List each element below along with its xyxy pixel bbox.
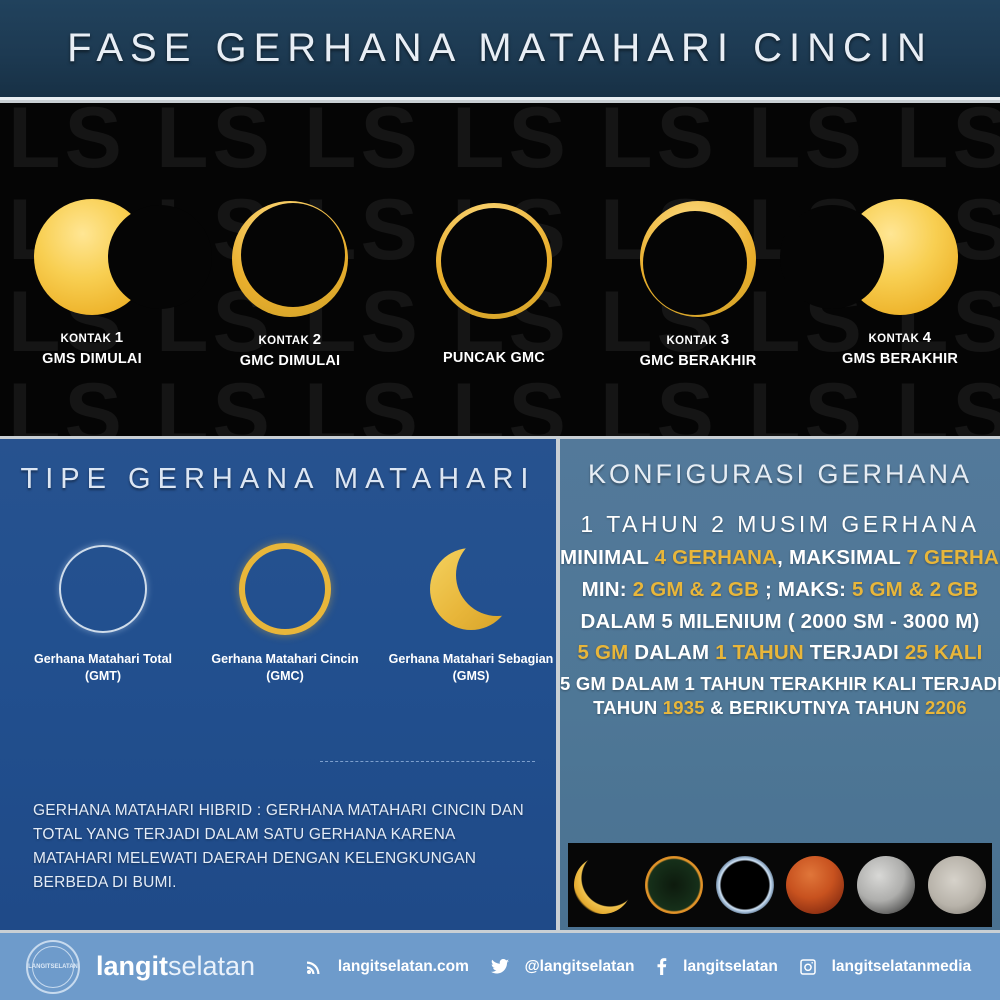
moon-disc bbox=[780, 205, 884, 309]
eclipse-photo-total-lunar-blood-moon bbox=[786, 856, 844, 914]
eclipse-types-title: TIPE GERHANA MATAHARI bbox=[0, 463, 556, 496]
highlight-value: 2206 bbox=[925, 697, 967, 718]
configuration-lines: 1 TAHUN 2 MUSIM GERHANAMINIMAL 4 GERHANA… bbox=[560, 511, 1000, 721]
highlight-value: 7 GERHANA bbox=[907, 546, 1000, 569]
corona-ring bbox=[59, 545, 147, 633]
rss-icon bbox=[306, 959, 330, 975]
config-text: & BERIKUTNYA TAHUN bbox=[705, 697, 925, 718]
moon-disc bbox=[441, 208, 547, 314]
type-abbr: (GMT) bbox=[85, 669, 121, 683]
phase-name: GMS BERAKHIR bbox=[800, 351, 1000, 367]
phase-name: GMC BERAKHIR bbox=[598, 353, 798, 369]
config-text: MINIMAL bbox=[560, 546, 655, 569]
phase-item-1: KONTAK 1GMS DIMULAI bbox=[0, 199, 192, 367]
config-text: TERJADI bbox=[804, 641, 905, 664]
eclipse-types-panel: TIPE GERHANA MATAHARI Gerhana Matahari T… bbox=[0, 439, 556, 930]
config-line-3: MIN: 2 GM & 2 GB ; MAKS: 5 GM & 2 GB bbox=[560, 578, 1000, 602]
config-text: DALAM 5 MILENIUM ( 2000 SM - 3000 M) bbox=[580, 610, 979, 633]
brand-bold: langit bbox=[96, 951, 168, 981]
phase-contact-label: KONTAK 4 bbox=[800, 329, 1000, 346]
moon-disc bbox=[241, 203, 345, 307]
phase-artwork-ring-thick bbox=[232, 201, 348, 317]
phase-name: GMS DIMULAI bbox=[0, 351, 192, 367]
phase-item-5: KONTAK 4GMS BERAKHIR bbox=[800, 199, 1000, 367]
phase-name: GMC DIMULAI bbox=[190, 353, 390, 369]
instagram-icon bbox=[800, 959, 824, 975]
phase-name: PUNCAK GMC bbox=[394, 350, 594, 366]
brand-wordmark: langitselatan bbox=[96, 951, 255, 982]
highlight-value: 25 KALI bbox=[905, 641, 983, 664]
seal-label: LANGITSELATAN bbox=[28, 942, 78, 992]
phase-artwork-ring-thick-offset bbox=[640, 201, 756, 317]
type-artwork-gold-crescent bbox=[421, 539, 521, 639]
config-text: DALAM bbox=[628, 641, 715, 664]
type-abbr: (GMC) bbox=[266, 669, 304, 683]
eclipse-photo-partial-solar-crescent bbox=[574, 856, 632, 914]
phase-contact-label: KONTAK 1 bbox=[0, 329, 192, 346]
type-artwork-gold-ring bbox=[235, 539, 335, 639]
brand-light: selatan bbox=[168, 951, 255, 981]
config-text: 1 TAHUN 2 MUSIM GERHANA bbox=[580, 511, 979, 537]
eclipse-type-gmc: Gerhana Matahari Cincin(GMC) bbox=[192, 539, 378, 685]
eclipse-photo-partial-lunar-eclipse bbox=[857, 856, 915, 914]
langitselatan-seal-logo: LANGITSELATAN bbox=[26, 940, 80, 994]
eclipse-phases-panel: LSLSLSLSLSLSLSLSLSLSLSLSLSLSLSLSLSLSLSLS… bbox=[0, 103, 1000, 436]
social-label: langitselatan bbox=[683, 958, 778, 976]
eclipse-type-gms: Gerhana Matahari Sebagian(GMS) bbox=[378, 539, 556, 685]
social-links: langitselatan.com@langitselatanlangitsel… bbox=[295, 958, 982, 976]
highlight-value: 4 GERHANA bbox=[655, 546, 778, 569]
social-label: langitselatan.com bbox=[338, 958, 469, 976]
highlight-value: 5 GM bbox=[577, 641, 628, 664]
hybrid-eclipse-note: GERHANA MATAHARI HIBRID : GERHANA MATAHA… bbox=[33, 799, 533, 895]
config-text: MIN: bbox=[582, 578, 633, 601]
phase-contact-label: KONTAK 2 bbox=[190, 331, 390, 348]
phase-artwork-ring-thin bbox=[436, 203, 552, 319]
type-name: Gerhana Matahari Sebagian bbox=[389, 652, 554, 666]
highlight-value: 5 GM & 2 GB bbox=[852, 578, 978, 601]
config-line-2: MINIMAL 4 GERHANA, MAKSIMAL 7 GERHANA bbox=[560, 546, 1000, 570]
config-text: TAHUN bbox=[593, 697, 663, 718]
crescent-shape bbox=[421, 539, 521, 639]
twitter-icon bbox=[491, 959, 517, 975]
eclipse-photo-annular-solar-ring bbox=[645, 856, 703, 914]
phase-item-2: KONTAK 2GMC DIMULAI bbox=[190, 201, 390, 369]
eclipse-type-label: Gerhana Matahari Cincin(GMC) bbox=[192, 651, 378, 685]
social-link-instagram[interactable]: langitselatanmedia bbox=[800, 958, 972, 976]
social-link-twitter[interactable]: @langitselatan bbox=[491, 958, 635, 976]
moon-disc bbox=[643, 211, 747, 315]
eclipse-photo-strip bbox=[568, 843, 992, 927]
page-title: FASE GERHANA MATAHARI CINCIN bbox=[67, 26, 933, 71]
eclipse-photo-total-solar-corona bbox=[716, 856, 774, 914]
phase-artwork-sun-notched-left bbox=[842, 199, 958, 315]
footer-bar: LANGITSELATAN langitselatan langitselata… bbox=[0, 933, 1000, 1000]
phase-row: KONTAK 1GMS DIMULAIKONTAK 2GMC DIMULAI P… bbox=[0, 103, 1000, 436]
social-label: @langitselatan bbox=[525, 958, 635, 976]
phase-contact-label: KONTAK 3 bbox=[598, 331, 798, 348]
phase-item-3: PUNCAK GMC bbox=[394, 203, 594, 366]
eclipse-photo-full-moon bbox=[928, 856, 986, 914]
phase-contact-label bbox=[394, 333, 594, 345]
social-link-rss[interactable]: langitselatan.com bbox=[306, 958, 469, 976]
highlight-value: 1935 bbox=[663, 697, 705, 718]
type-name: Gerhana Matahari Cincin bbox=[211, 652, 358, 666]
facebook-icon bbox=[656, 958, 675, 975]
config-line-7: TAHUN 1935 & BERIKUTNYA TAHUN 2206 bbox=[560, 697, 1000, 718]
eclipse-type-gmt: Gerhana Matahari Total(GMT) bbox=[10, 539, 196, 685]
social-link-facebook[interactable]: langitselatan bbox=[656, 958, 778, 976]
config-text: ; MAKS: bbox=[759, 578, 852, 601]
config-text: 5 GM DALAM 1 TAHUN TERAKHIR KALI TERJADI bbox=[560, 673, 1000, 694]
phase-item-4: KONTAK 3GMC BERAKHIR bbox=[598, 201, 798, 369]
eclipse-types-list: Gerhana Matahari Total(GMT)Gerhana Matah… bbox=[0, 539, 556, 719]
config-text: , MAKSIMAL bbox=[777, 546, 906, 569]
type-name: Gerhana Matahari Total bbox=[34, 652, 172, 666]
type-abbr: (GMS) bbox=[453, 669, 490, 683]
config-line-4: DALAM 5 MILENIUM ( 2000 SM - 3000 M) bbox=[560, 610, 1000, 634]
eclipse-type-label: Gerhana Matahari Total(GMT) bbox=[10, 651, 196, 685]
highlight-value: 1 TAHUN bbox=[715, 641, 804, 664]
config-line-1: 1 TAHUN 2 MUSIM GERHANA bbox=[560, 511, 1000, 537]
config-line-5: 5 GM DALAM 1 TAHUN TERJADI 25 KALI bbox=[560, 641, 1000, 665]
eclipse-type-label: Gerhana Matahari Sebagian(GMS) bbox=[378, 651, 556, 685]
type-artwork-thin-white-ring bbox=[53, 539, 153, 639]
configuration-title: KONFIGURASI GERHANA bbox=[560, 459, 1000, 490]
header-bar: FASE GERHANA MATAHARI CINCIN bbox=[0, 0, 1000, 100]
highlight-value: 2 GM & 2 GB bbox=[633, 578, 759, 601]
infographic-page: FASE GERHANA MATAHARI CINCIN LSLSLSLSLSL… bbox=[0, 0, 1000, 1000]
config-line-6: 5 GM DALAM 1 TAHUN TERAKHIR KALI TERJADI bbox=[560, 673, 1000, 694]
phase-artwork-sun-notched-right bbox=[34, 199, 150, 315]
left-divider bbox=[320, 761, 535, 762]
annulus-ring bbox=[239, 543, 331, 635]
social-label: langitselatanmedia bbox=[832, 958, 972, 976]
